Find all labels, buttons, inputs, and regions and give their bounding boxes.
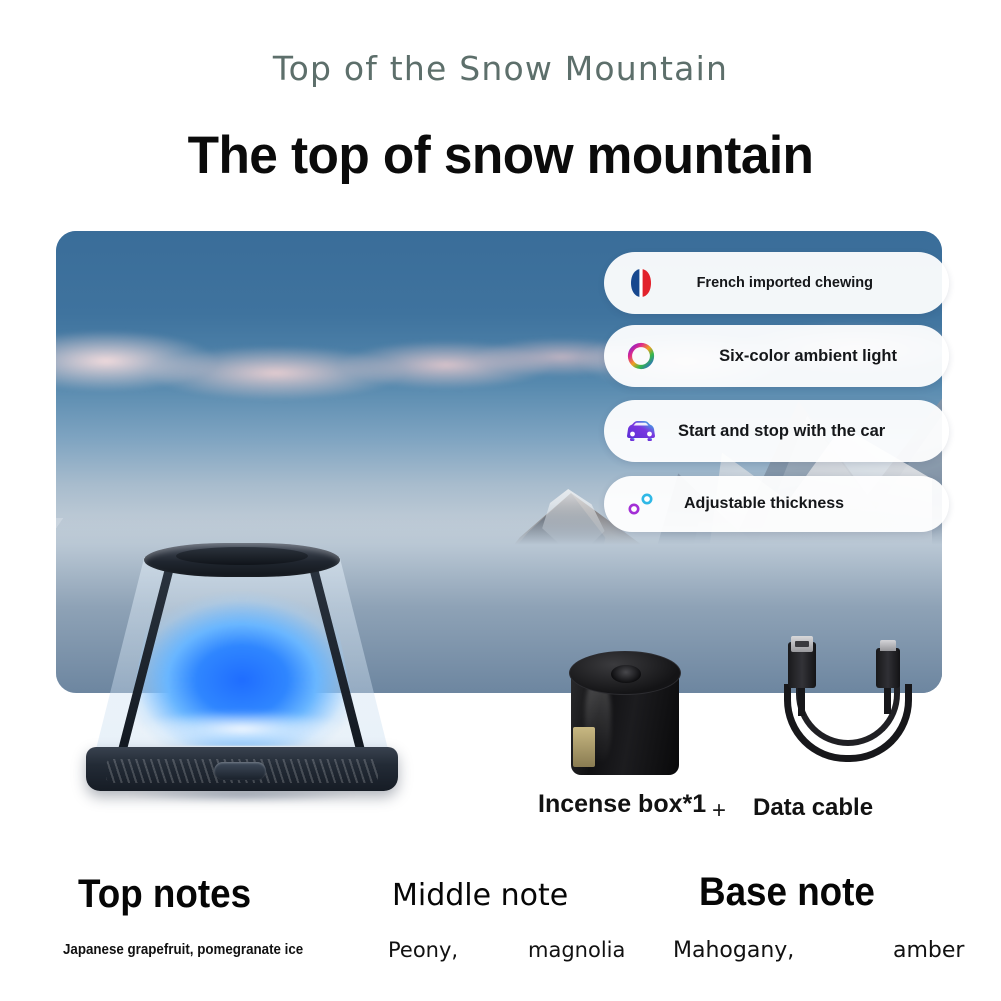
diffuser-top-cap-inner (176, 547, 308, 565)
micro-usb-tip (880, 640, 896, 651)
top-notes-heading: Top notes (78, 872, 251, 917)
feature-badge-six-color-light[interactable]: Six-color ambient light (604, 325, 949, 387)
cable-lead-right (884, 686, 891, 714)
micro-usb-connector (876, 648, 900, 688)
middle-notes-body-first: Peony, (388, 938, 458, 962)
sliders-icon (620, 483, 662, 525)
color-ring-icon (620, 335, 662, 377)
car-icon (620, 410, 662, 452)
base-notes-body-second: amber (893, 938, 964, 963)
diffuser-power-button[interactable] (214, 762, 266, 780)
accessory-data-cable (780, 636, 960, 766)
cloud-band-left (56, 303, 656, 423)
product-aroma-diffuser (72, 533, 412, 803)
feature-badge-start-stop-with-car[interactable]: Start and stop with the car (604, 400, 949, 462)
incense-center-hole (611, 665, 641, 683)
accessory-incense-box (563, 645, 688, 785)
page-title: The top of snow mountain (15, 125, 986, 186)
feature-badge-label: Six-color ambient light (662, 347, 935, 366)
feature-badge-label: Start and stop with the car (662, 422, 935, 441)
feature-badge-adjustable-thickness[interactable]: Adjustable thickness (604, 476, 949, 532)
middle-notes-body-second: magnolia (528, 938, 625, 962)
accessory-plus-sign: + (712, 797, 726, 825)
feature-badge-label: Adjustable thickness (662, 495, 935, 513)
incense-label-patch (573, 727, 595, 767)
base-notes-body-first: Mahogany, (673, 938, 794, 963)
base-notes-heading: Base note (699, 870, 875, 915)
feature-badge-label: French imported chewing (662, 275, 935, 292)
data-cable-caption: Data cable (753, 794, 873, 822)
cable-lead-left (798, 686, 805, 716)
usb-a-tip (791, 636, 813, 652)
incense-box-caption: Incense box*1 (538, 790, 706, 819)
feature-badge-french-imported[interactable]: French imported chewing (604, 252, 949, 314)
middle-notes-heading: Middle note (392, 878, 568, 913)
top-notes-body: Japanese grapefruit, pomegranate ice (63, 942, 303, 958)
page-eyebrow-title: Top of the Snow Mountain (0, 49, 1001, 88)
french-flag-icon (620, 262, 662, 304)
